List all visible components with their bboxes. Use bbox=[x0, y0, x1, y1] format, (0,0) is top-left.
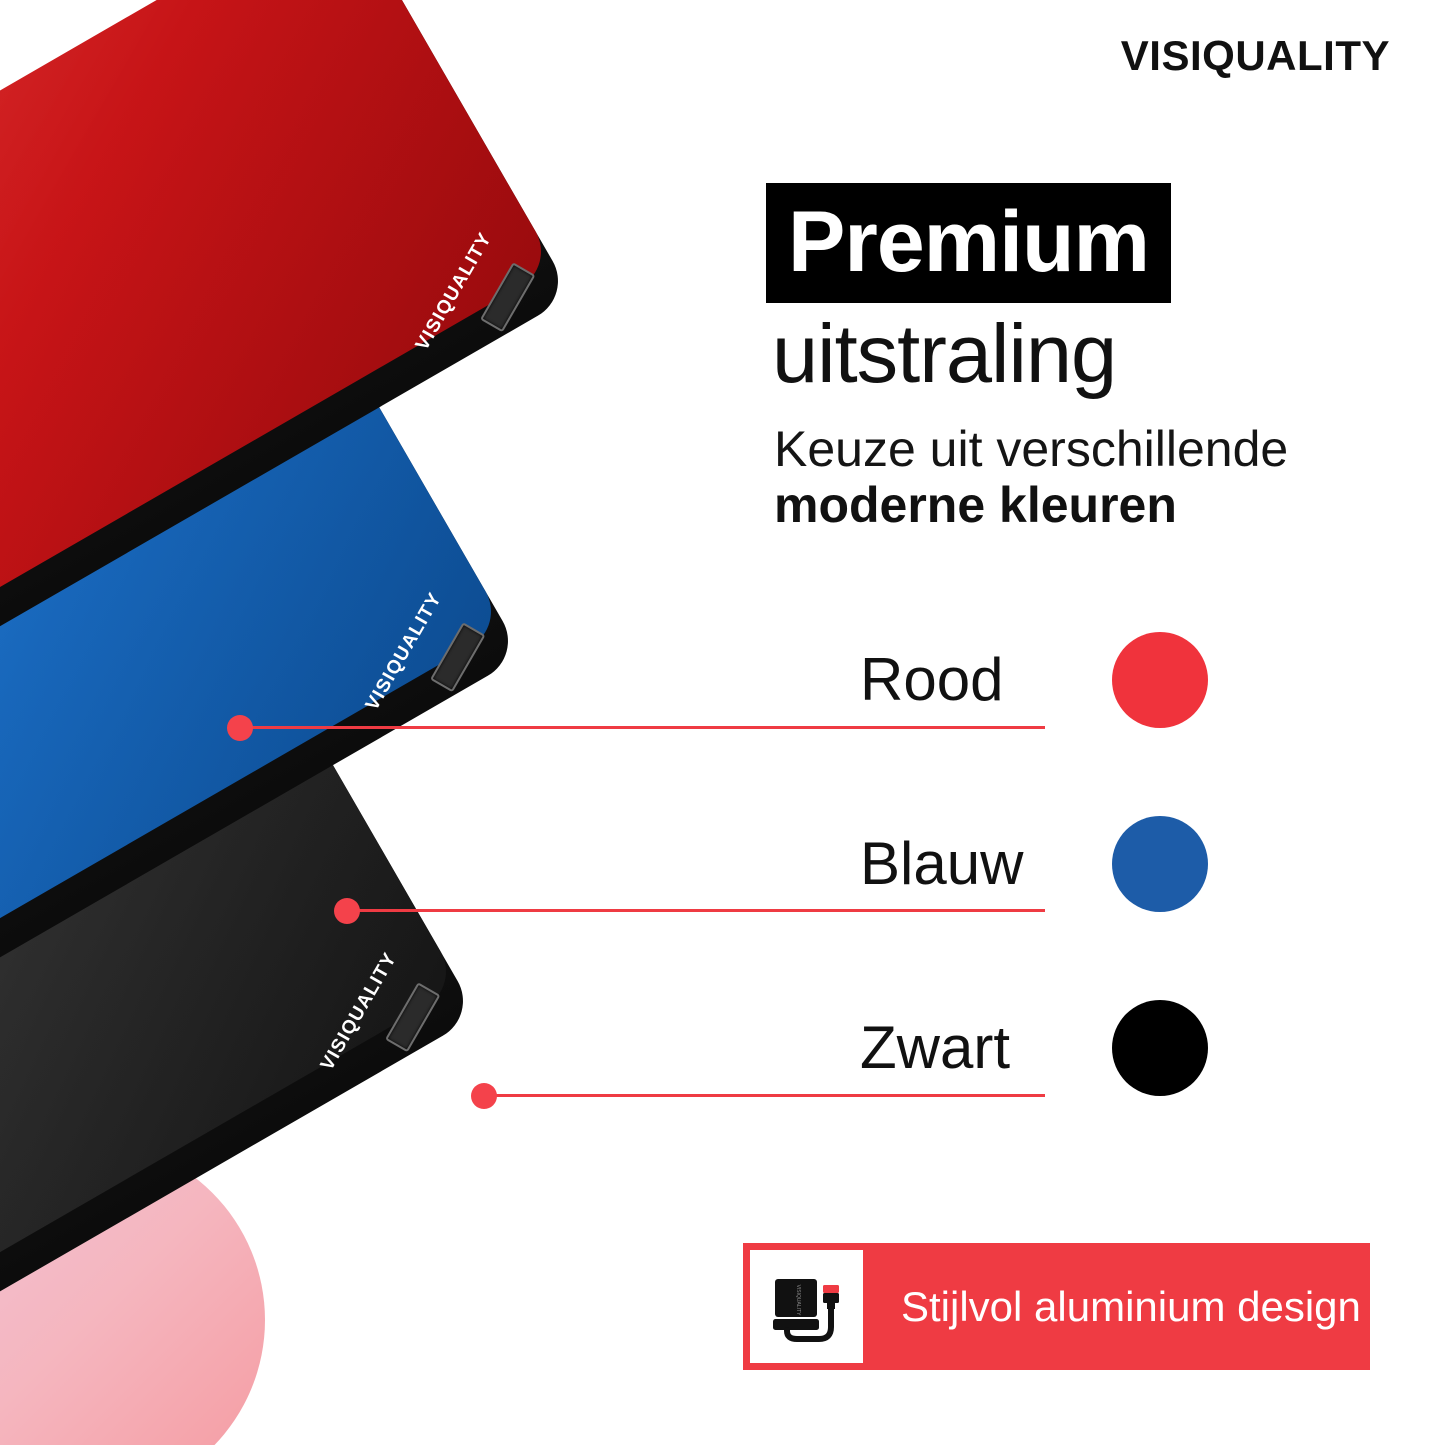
subtitle-line-1: Keuze uit verschillende bbox=[774, 421, 1288, 477]
feature-icon-box: VISIQUALITY bbox=[750, 1250, 863, 1363]
headline-subtext: uitstraling bbox=[772, 309, 1288, 399]
color-swatch-blauw bbox=[1112, 816, 1208, 912]
subtitle-line-2: moderne kleuren bbox=[774, 477, 1288, 533]
premium-badge: Premium bbox=[766, 183, 1171, 303]
legend-label-blauw: Blauw bbox=[860, 834, 1023, 894]
color-swatch-zwart bbox=[1112, 1000, 1208, 1096]
callout-dot-blauw bbox=[334, 898, 360, 924]
feature-banner-label: Stijlvol aluminium design bbox=[901, 1286, 1361, 1328]
headline-block: Premium uitstraling Keuze uit verschille… bbox=[766, 183, 1288, 533]
legend-row-blauw: Blauw bbox=[860, 814, 1220, 914]
legend-label-rood: Rood bbox=[860, 650, 1003, 710]
legend-row-rood: Rood bbox=[860, 630, 1220, 730]
legend-row-zwart: Zwart bbox=[860, 998, 1220, 1098]
feature-banner: VISIQUALITY Stijlvol aluminium design bbox=[743, 1243, 1370, 1370]
callout-dot-rood bbox=[227, 715, 253, 741]
svg-text:VISIQUALITY: VISIQUALITY bbox=[795, 1284, 801, 1316]
callout-dot-zwart bbox=[471, 1083, 497, 1109]
legend-label-zwart: Zwart bbox=[860, 1018, 1010, 1078]
color-swatch-rood bbox=[1112, 632, 1208, 728]
external-hard-drive-icon: VISIQUALITY bbox=[761, 1261, 853, 1353]
color-legend: Rood Blauw Zwart bbox=[860, 630, 1220, 1182]
product-infographic: VISIQUALITY VISIQUALITY VISIQUALITY VISI… bbox=[0, 0, 1445, 1445]
brand-logo: VISIQUALITY bbox=[1121, 32, 1390, 80]
